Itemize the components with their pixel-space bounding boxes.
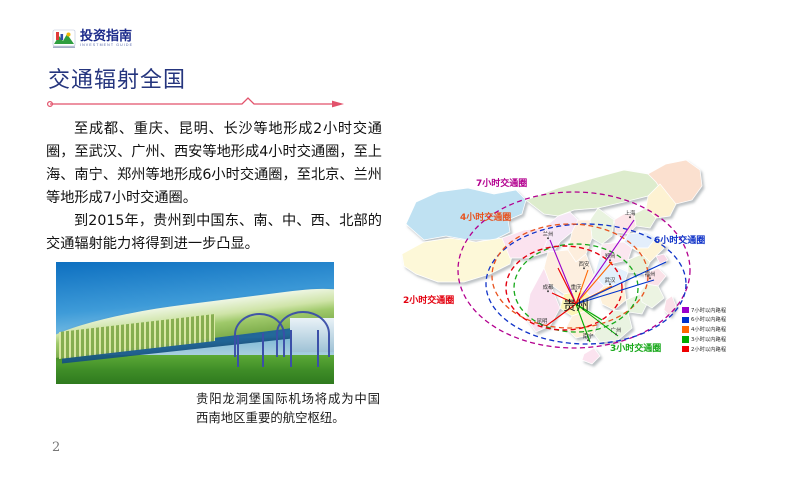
logo-text: 投资指南 INVESTMENT GUIDE xyxy=(80,30,133,48)
map-city-label: 上海 xyxy=(625,209,636,217)
page-number: 2 xyxy=(52,440,60,455)
legend-row: 6小时以内路程 xyxy=(682,316,786,325)
photo-truss-leg-3 xyxy=(290,330,292,367)
map-city-label: 郑州 xyxy=(605,252,616,260)
map-city-dot xyxy=(615,333,617,335)
photo-truss-leg-1 xyxy=(237,335,239,367)
legend-label: 7小时以内路程 xyxy=(691,307,726,314)
logo-name-cn: 投资指南 xyxy=(80,30,133,43)
map-city-label: 兰州 xyxy=(543,230,554,238)
map-city-dot xyxy=(547,290,549,292)
map-circle-label: 2小时交通圈 xyxy=(403,293,454,306)
map-circle-label: 7小时交通圈 xyxy=(476,176,527,189)
map-city-label: 南宁 xyxy=(583,332,594,340)
legend-row: 4小时以内路程 xyxy=(682,325,786,334)
slide-page: 投资指南 INVESTMENT GUIDE 交通辐射全国 至成都、重庆、昆明、长… xyxy=(0,0,800,480)
map-city-label: 福州 xyxy=(645,270,656,278)
legend-label: 4小时以内路程 xyxy=(691,326,726,333)
body-paragraph-1: 至成都、重庆、昆明、长沙等地形成2小时交通圈，至武汉、广州、西安等地形成4小时交… xyxy=(46,118,382,210)
map-city-label: 广州 xyxy=(611,326,622,334)
map-city-label: 西安 xyxy=(579,260,590,268)
legend-swatch xyxy=(682,336,689,342)
map-city-dot xyxy=(587,339,589,341)
page-title: 交通辐射全国 xyxy=(48,62,186,94)
legend-label: 2小时以内路程 xyxy=(691,345,726,352)
map-center-label: 贵州 xyxy=(563,299,589,314)
map-city-dot xyxy=(609,283,611,285)
map-city-label: 武汉 xyxy=(605,276,616,284)
airport-photo xyxy=(56,262,334,384)
map-provinces xyxy=(402,160,702,364)
map-city-dot xyxy=(649,277,651,279)
map-city-dot xyxy=(583,267,585,269)
legend-swatch xyxy=(682,346,689,352)
map-city-dot xyxy=(609,259,611,261)
map-city-label: 昆明 xyxy=(537,318,548,325)
logo-mark-icon xyxy=(52,27,76,51)
legend-swatch xyxy=(682,326,689,332)
legend-label: 3小时以内路程 xyxy=(691,336,726,343)
photo-caption: 贵阳龙洞堡国际机场将成为中国西南地区重要的航空枢纽。 xyxy=(196,389,380,427)
legend-row: 7小时以内路程 xyxy=(682,306,786,315)
map-city-label: 成都 xyxy=(543,283,554,291)
legend-row: 3小时以内路程 xyxy=(682,335,786,344)
map-circle-label: 3小时交通圈 xyxy=(610,341,661,354)
legend-label: 6小时以内路程 xyxy=(691,316,726,323)
map-city-dot xyxy=(629,216,631,218)
photo-truss-leg-4 xyxy=(317,330,319,367)
brand-logo: 投资指南 INVESTMENT GUIDE xyxy=(52,26,148,52)
map-city-dot xyxy=(547,237,549,239)
body-paragraph-2: 到2015年，贵州到中国东、南、中、西、北部的交通辐射能力将得到进一步凸显。 xyxy=(46,210,382,256)
map-circle-label: 4小时交通圈 xyxy=(460,210,511,223)
map-legend: 7小时以内路程6小时以内路程4小时以内路程3小时以内路程2小时以内路程 xyxy=(682,306,786,354)
map-city-label: 重庆 xyxy=(571,283,582,291)
legend-row: 2小时以内路程 xyxy=(682,345,786,354)
legend-swatch xyxy=(682,307,689,313)
map-city-dot xyxy=(575,290,577,292)
photo-truss-leg-2 xyxy=(262,333,264,367)
title-underline-arrow xyxy=(46,95,346,107)
map-city-dot xyxy=(541,324,543,326)
legend-swatch xyxy=(682,317,689,323)
logo-name-en: INVESTMENT GUIDE xyxy=(80,44,133,48)
photo-truss-right xyxy=(276,311,330,357)
map-circle-label: 6小时交通圈 xyxy=(654,233,705,246)
